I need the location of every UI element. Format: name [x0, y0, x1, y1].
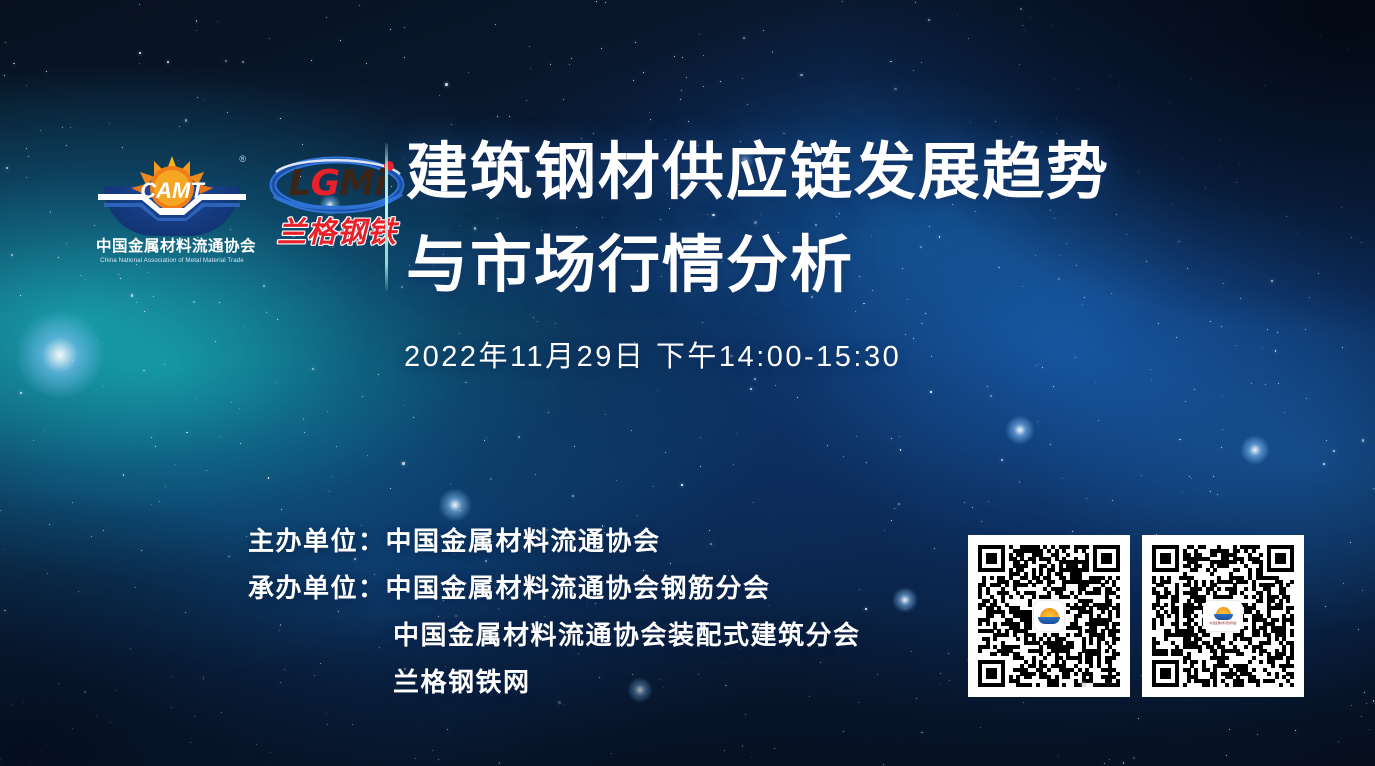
camt-name-en: China National Association of Metal Mate… [98, 256, 245, 265]
lgmi-letter-m: M [339, 163, 374, 204]
camt-name-cn: 中国金属材料流通协会 [96, 238, 248, 256]
wave-icon [1038, 617, 1060, 624]
qr-code-right-badge-caption: 中国金属材料流通协会 [1209, 621, 1236, 625]
lgmi-letter-g: G [311, 163, 340, 204]
title-line-1: 建筑钢材供应链发展趋势 [406, 126, 1266, 219]
organizer-line: 中国金属材料流通协会装配式建筑分会 [248, 612, 861, 659]
title-divider [385, 143, 388, 291]
qr-code-left-watermark: 微信扫一扫关注 [1080, 681, 1117, 687]
title-line-2: 与市场行情分析 [406, 219, 1266, 312]
camt-registered-mark: ® [239, 154, 246, 164]
qr-code-right[interactable]: 中国金属材料流通协会 [1142, 535, 1304, 697]
svg-text:CAMT: CAMT [140, 178, 205, 203]
event-datetime: 2022年11月29日 下午14:00-15:30 [404, 333, 901, 375]
qr-code-left[interactable]: 微信扫一扫关注 [968, 535, 1130, 697]
organizer-line: 兰格钢铁网 [248, 659, 861, 706]
qr-code-left-center-badge [1034, 601, 1064, 631]
qr-code-left-frame[interactable]: 微信扫一扫关注 [968, 535, 1130, 697]
wave-icon [1214, 614, 1233, 620]
camt-acronym: CAMT [126, 170, 218, 210]
camt-logo: ® CAMT 中国金属材料流通协会 China National Associa… [96, 152, 248, 264]
lgmi-letter-i: i [374, 163, 385, 204]
organizer-line: 承办单位：中国金属材料流通协会钢筋分会 [248, 565, 861, 612]
lgmi-letter-l: L [289, 163, 311, 204]
wechat-icon [1080, 681, 1087, 687]
page-title: 建筑钢材供应链发展趋势 与市场行情分析 [406, 126, 1266, 312]
qr-code-right-center-badge: 中国金属材料流通协会 [1203, 601, 1243, 631]
camt-mark: ® CAMT [96, 152, 248, 236]
logo-row: ® CAMT 中国金属材料流通协会 China National Associa… [96, 152, 408, 264]
poster-canvas: ® CAMT 中国金属材料流通协会 China National Associa… [0, 0, 1375, 766]
organizer-block: 主办单位：中国金属材料流通协会 承办单位：中国金属材料流通协会钢筋分会 中国金属… [248, 518, 861, 706]
qr-code-left-watermark-label: 微信扫一扫关注 [1089, 681, 1117, 687]
organizer-line: 主办单位：中国金属材料流通协会 [248, 518, 861, 565]
qr-code-right-frame[interactable]: 中国金属材料流通协会 [1142, 535, 1304, 697]
